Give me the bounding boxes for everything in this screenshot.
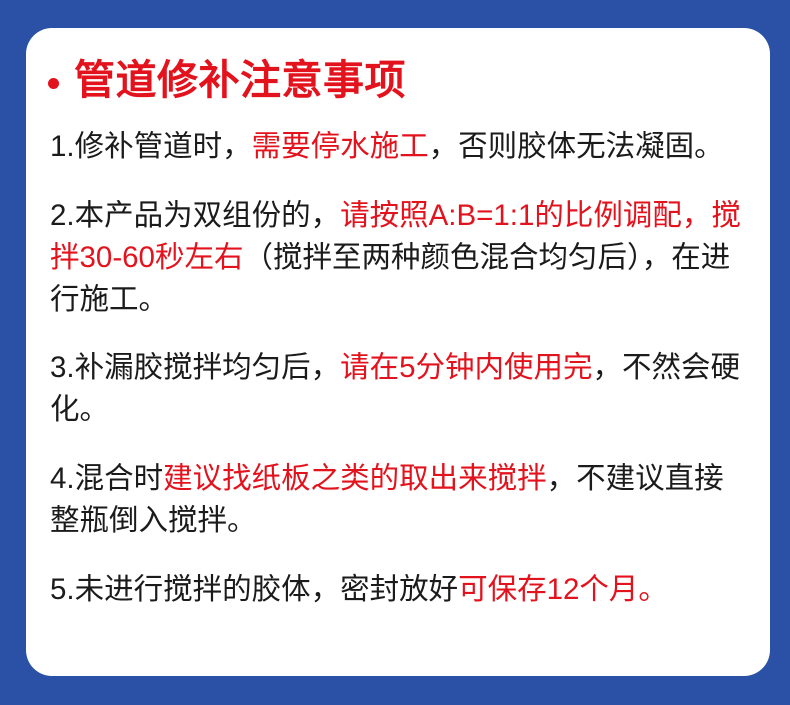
note-highlight-text: 可保存12个月。 [458,573,668,606]
note-item: 1.修补管道时，需要停水施工，否则胶体无法凝固。 [50,126,746,168]
note-text: 3.补漏胶搅拌均匀后， [50,351,340,384]
note-item: 2.本产品为双组份的，请按照A:B=1:1的比例调配，搅拌30-60秒左右（搅拌… [50,195,746,321]
note-item: 5.未进行搅拌的胶体，密封放好可保存12个月。 [50,569,746,611]
bullet-dot-icon [48,78,59,89]
page-title-text: 管道修补注意事项 [74,58,406,104]
note-highlight-text: 请在5分钟内使用完 [340,351,592,384]
notes-list: 1.修补管道时，需要停水施工，否则胶体无法凝固。2.本产品为双组份的，请按照A:… [26,104,770,611]
page-title: 管道修补注意事项 [26,28,770,104]
note-highlight-text: 需要停水施工 [252,130,429,163]
content-card: 管道修补注意事项 1.修补管道时，需要停水施工，否则胶体无法凝固。2.本产品为双… [26,28,770,676]
note-text: 5.未进行搅拌的胶体，密封放好 [50,573,458,606]
note-text: 4.混合时 [50,462,163,495]
note-highlight-text: 建议找纸板之类的取出来搅拌 [163,462,547,495]
note-text: 1.修补管道时， [50,130,252,163]
note-item: 3.补漏胶搅拌均匀后，请在5分钟内使用完，不然会硬化。 [50,347,746,431]
note-text: 2.本产品为双组份的， [50,199,340,232]
note-text: ，否则胶体无法凝固。 [429,130,724,163]
poster-root: 管道修补注意事项 1.修补管道时，需要停水施工，否则胶体无法凝固。2.本产品为双… [0,0,790,705]
note-item: 4.混合时建议找纸板之类的取出来搅拌，不建议直接整瓶倒入搅拌。 [50,458,746,542]
